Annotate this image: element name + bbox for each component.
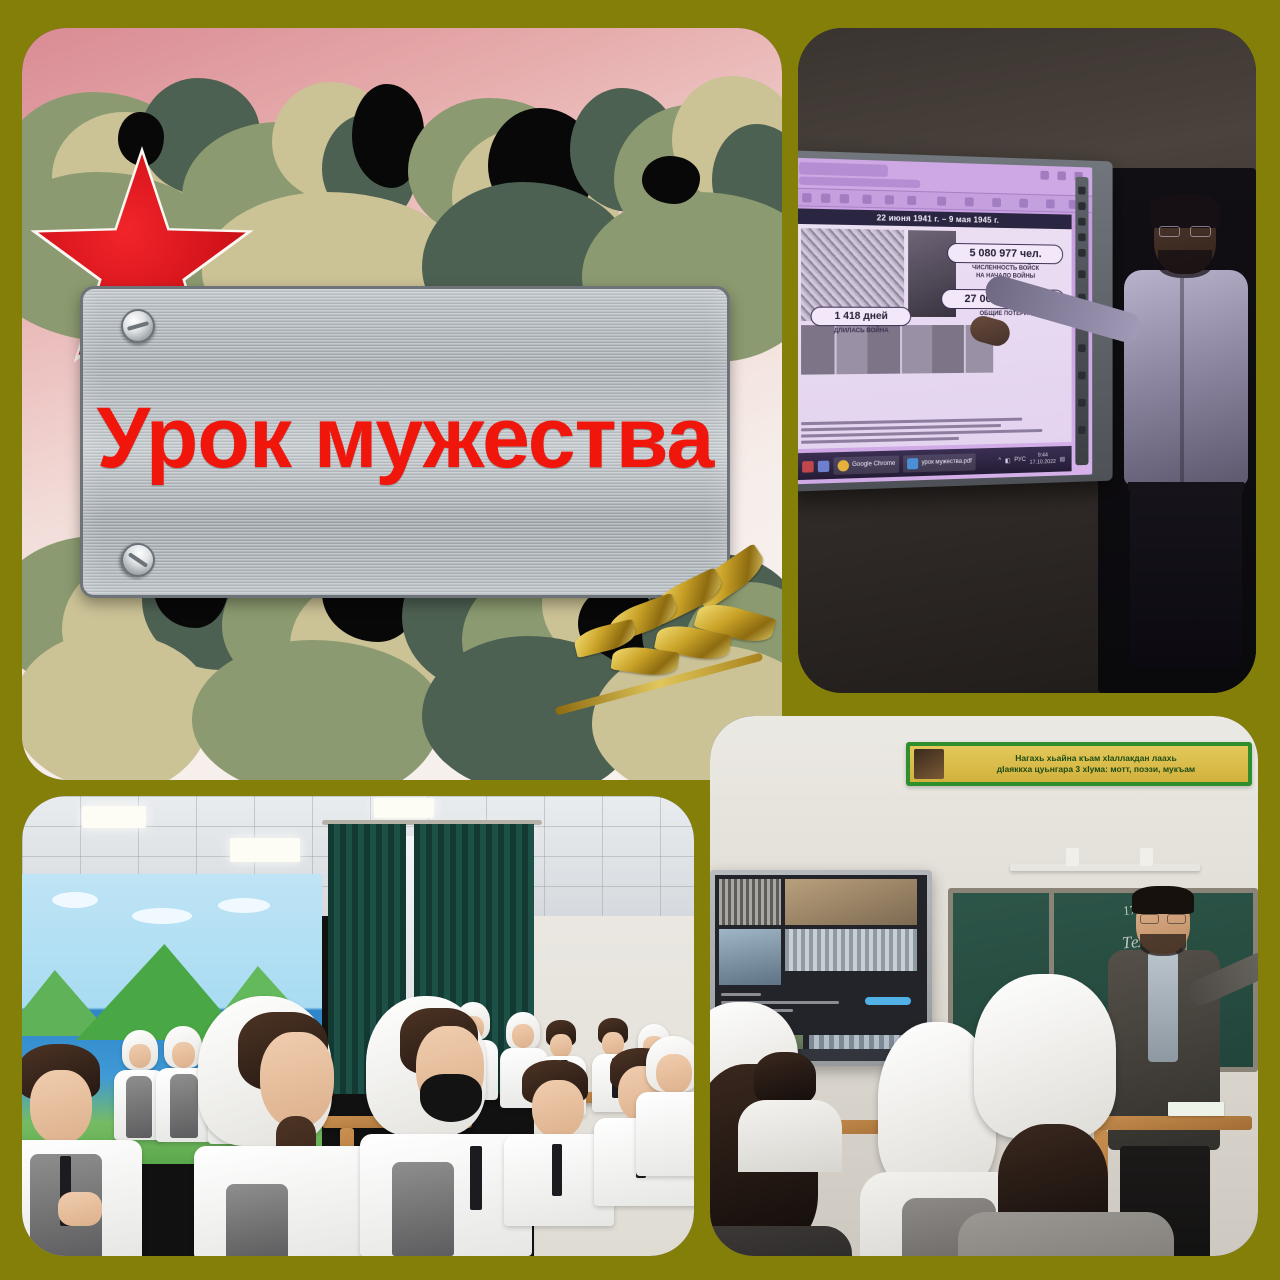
- clock[interactable]: 9:44 17.10.2022: [1030, 452, 1056, 466]
- gallery-image: [785, 929, 917, 971]
- windows-taskbar[interactable]: Google Chrome урок мужества.pdf ^ ◧ РУС …: [798, 446, 1072, 480]
- slide-footer-text: [801, 417, 1068, 447]
- start-icon[interactable]: [802, 460, 814, 472]
- address-bar[interactable]: [799, 176, 920, 188]
- chrome-icon: [838, 459, 849, 471]
- gallery-image: [785, 879, 917, 925]
- mountain-icon: [914, 749, 944, 779]
- teacher-at-board: [1100, 892, 1236, 1212]
- fact-troops-value: 5 080 977 чел.: [947, 243, 1063, 264]
- panel-title-card: Урок мужества: [22, 28, 782, 780]
- fact-days-value: 1 418 дней: [811, 307, 912, 327]
- page-title: Урок мужества: [97, 389, 714, 488]
- primary-action-button[interactable]: [865, 997, 911, 1005]
- taskbar-app-pdf[interactable]: урок мужества.pdf: [903, 453, 975, 472]
- taskbar-app-chrome[interactable]: Google Chrome: [833, 455, 899, 474]
- notebook: [1168, 1102, 1224, 1116]
- maximize-icon[interactable]: [1057, 171, 1065, 180]
- pdf-icon: [907, 458, 918, 469]
- panel-classroom-rear: Нагахь хьайна къам хӀаллакдан лаахь дӀая…: [710, 716, 1258, 1256]
- screw-icon-bottom: [114, 536, 162, 584]
- glasses-icon: [1140, 914, 1186, 924]
- panel-classroom-students: [22, 796, 694, 1256]
- notifications-icon[interactable]: ▤: [1060, 455, 1065, 462]
- gold-laurel-icon: [546, 556, 776, 716]
- metal-plate: Урок мужества: [80, 286, 730, 598]
- volume-icon[interactable]: ◧: [1005, 457, 1010, 464]
- gallery-image: [719, 929, 781, 985]
- minimize-icon[interactable]: [1040, 171, 1049, 180]
- screw-icon-top: [121, 309, 155, 343]
- chevron-up-icon[interactable]: ^: [998, 458, 1001, 464]
- teacher-pointing: [1098, 200, 1256, 670]
- photo-collage: Урок мужества: [0, 0, 1280, 1280]
- wall-shelf: [1010, 864, 1200, 871]
- archive-photo-thumb: [719, 879, 781, 925]
- slide-header-text: 22 июня 1941 г. – 9 мая 1945 г.: [877, 213, 999, 225]
- clock-date: 17.10.2022: [1030, 459, 1056, 467]
- system-tray[interactable]: ^ ◧ РУС 9:44 17.10.2022 ▤: [998, 452, 1068, 468]
- glasses-icon: [1159, 226, 1211, 237]
- search-icon[interactable]: [818, 460, 829, 472]
- slide-body: 5 080 977 чел. ЧИСЛЕННОСТЬ ВОЙСК НА НАЧА…: [798, 224, 1072, 449]
- whiteboard-screen[interactable]: 22 июня 1941 г. – 9 мая 1945 г. 5 080 97…: [798, 158, 1092, 485]
- language-indicator[interactable]: РУС: [1014, 457, 1026, 463]
- browser-tab[interactable]: [799, 162, 888, 177]
- fact-days-caption: ДЛИЛАСЬ ВОЙНА: [811, 328, 912, 336]
- panel-whiteboard-lesson: 22 июня 1941 г. – 9 мая 1945 г. 5 080 97…: [798, 28, 1256, 693]
- presentation-slide: 22 июня 1941 г. – 9 мая 1945 г. 5 080 97…: [798, 208, 1072, 449]
- banner-text: Нагахь хьайна къам хӀаллакдан лаахь дӀая…: [944, 753, 1248, 775]
- wall-banner: Нагахь хьайна къам хӀаллакдан лаахь дӀая…: [906, 742, 1252, 786]
